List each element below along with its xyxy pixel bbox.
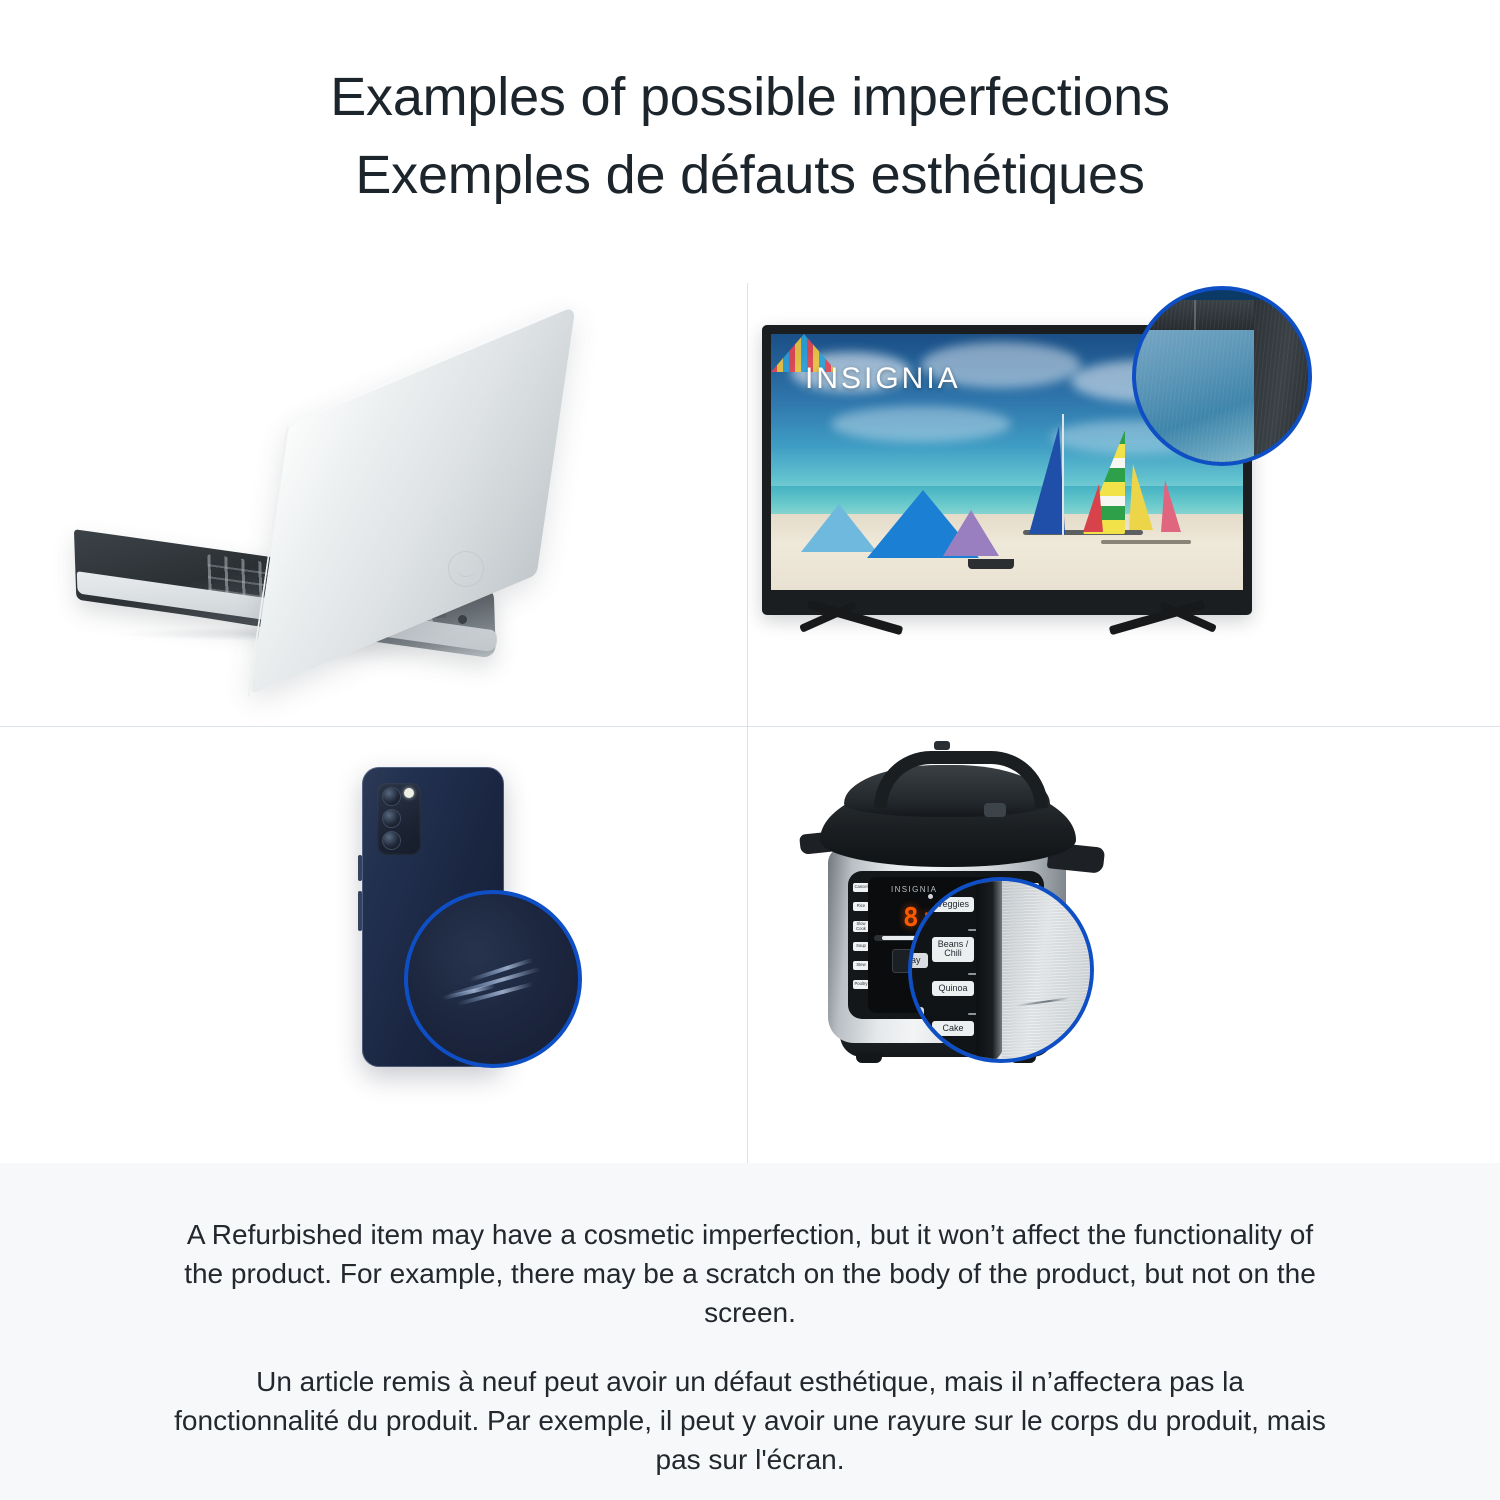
description-text-block: A Refurbished item may have a cosmetic i… <box>170 1215 1330 1479</box>
camera-flash-icon <box>404 788 414 798</box>
laptop-audio-jack-icon <box>458 615 467 624</box>
cell-laptop <box>0 283 747 726</box>
magnifier-circle-cooker-scratch: Veggies Beans / Chili Quinoa Cake Delay … <box>908 877 1094 1063</box>
phone-power-button <box>358 891 362 931</box>
laptop-illustration <box>0 283 747 726</box>
beach-kite <box>943 510 999 556</box>
cooker-lid-handle[interactable] <box>874 751 1048 808</box>
magnified-stainless-surface <box>1002 881 1094 1063</box>
television-illustration: INSIGNIA <box>748 283 1500 726</box>
tv-screen-brand-logo: INSIGNIA <box>805 362 961 396</box>
description-panel: A Refurbished item may have a cosmetic i… <box>0 1163 1500 1500</box>
cooker-button-cancel[interactable]: Cancel <box>853 883 869 892</box>
camera-lens-icon <box>382 809 401 828</box>
magnifier-circle-tv-bezel-scratch <box>1132 286 1312 466</box>
blue-sail <box>1029 426 1065 534</box>
magnified-button-cake: Cake <box>932 1021 974 1036</box>
magnified-button-beans-chili: Beans / Chili <box>932 937 974 962</box>
phone-volume-button <box>358 855 362 881</box>
description-french: Un article remis à neuf peut avoir un dé… <box>170 1362 1330 1479</box>
beach-kite <box>801 504 877 552</box>
pink-sail <box>1161 480 1181 532</box>
yellow-sail <box>1129 464 1153 530</box>
cell-smartphone <box>0 727 747 1163</box>
catamaran-hull <box>1101 540 1191 544</box>
cooker-button-poultry[interactable]: Poultry <box>853 980 869 989</box>
title-line-french: Exemples de défauts esthétiques <box>0 136 1500 214</box>
magnified-button-veggies: Veggies <box>932 897 974 912</box>
cooker-button-slow-cook[interactable]: Slow Cook <box>853 921 869 932</box>
camera-lens-icon <box>382 787 401 806</box>
refurbished-imperfections-infographic: Examples of possible imperfections Exemp… <box>0 0 1500 1500</box>
description-english: A Refurbished item may have a cosmetic i… <box>170 1215 1330 1332</box>
camera-lens-icon <box>382 831 401 850</box>
magnified-button-quinoa: Quinoa <box>932 981 974 996</box>
title-line-english: Examples of possible imperfections <box>0 58 1500 136</box>
magnified-button-delay: Delay <box>908 953 928 968</box>
cooker-button-rice[interactable]: Rice <box>853 902 869 911</box>
scratch-mark <box>1132 300 1312 466</box>
sail-mast <box>1062 414 1064 536</box>
laptop-brand-logo-icon <box>448 551 484 587</box>
cooker-lid-knob[interactable] <box>934 741 950 750</box>
cell-television: INSIGNIA <box>748 283 1500 726</box>
bezel-seam <box>1194 300 1196 330</box>
smartphone-illustration <box>0 727 747 1163</box>
cloud-shape <box>831 406 1011 442</box>
tv-center-nub <box>968 559 1014 569</box>
page-title: Examples of possible imperfections Exemp… <box>0 58 1500 214</box>
cooker-button-soup[interactable]: Soup <box>853 942 869 951</box>
cooker-foot <box>856 1053 882 1063</box>
product-examples-grid: INSIGNIA <box>0 283 1500 1163</box>
red-sail <box>1083 484 1103 532</box>
cell-pressure-cooker: Cancel Rice Slow Cook Soup Stew Poultry … <box>748 727 1500 1163</box>
pressure-cooker-illustration: Cancel Rice Slow Cook Soup Stew Poultry … <box>748 727 1500 1163</box>
magnifier-circle-phone-scratches <box>404 890 582 1068</box>
cooker-button-stew[interactable]: Stew <box>853 961 869 970</box>
